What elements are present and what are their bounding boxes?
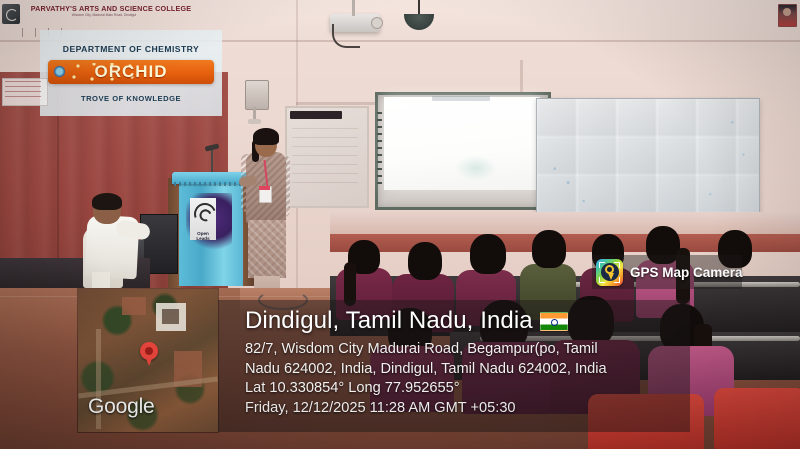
gps-logo-corner xyxy=(599,277,605,283)
speaker-lower-garment xyxy=(248,220,286,278)
address-line-2: Nadu 624002, India, Dindigul, Tamil Nadu… xyxy=(245,360,675,380)
banner-college-name: PARVATHY'S ARTS AND SCIENCE COLLEGE xyxy=(18,4,204,13)
notice-board-text-lines xyxy=(292,128,358,190)
map-building-courtyard xyxy=(162,309,179,324)
projector-mount-arm xyxy=(352,0,355,16)
wall-speaker-box xyxy=(245,80,269,110)
banner-tagline: TROVE OF KNOWLEDGE xyxy=(48,94,214,103)
location-details: 82/7, Wisdom City Madurai Road, Begampur… xyxy=(245,340,675,418)
gps-logo-corner xyxy=(614,262,620,268)
notice-board-header xyxy=(290,111,342,119)
location-title: Dindigul, Tamil Nadu, India xyxy=(245,307,533,335)
map-pin-center xyxy=(145,347,153,355)
speaker-id-badge-header xyxy=(259,186,270,190)
location-title-row: Dindigul, Tamil Nadu, India xyxy=(245,307,568,335)
audience-member-head xyxy=(532,230,566,268)
address-line-1: 82/7, Wisdom City Madurai Road, Begampur… xyxy=(245,340,675,360)
banner-event-title: ORCHID xyxy=(48,60,214,84)
gps-map-camera-label: GPS Map Camera xyxy=(630,265,743,280)
projection-screen-glare xyxy=(455,155,497,181)
gps-logo-pupil xyxy=(607,267,612,272)
gps-logo-corner xyxy=(614,277,620,283)
podium-brand-label: Open Leads xyxy=(190,231,216,241)
india-flag-icon xyxy=(540,312,568,331)
timestamp-line: Friday, 12/12/2025 11:28 AM GMT +05:30 xyxy=(245,399,675,419)
podium-fringe xyxy=(174,182,248,186)
projector-cable xyxy=(332,24,360,48)
audience-member-head xyxy=(470,234,506,274)
banner-college-subtitle: Wisdom City, Madurai Main Road, Dindigul xyxy=(24,13,184,18)
gps-map-camera-logo-icon xyxy=(596,259,623,286)
whiteboard-marker-tray xyxy=(377,112,382,184)
projection-screen-header-bar xyxy=(432,96,490,101)
college-event-banner xyxy=(536,98,760,216)
audience-chair xyxy=(714,388,800,449)
banner-portrait-photo xyxy=(778,4,797,27)
wall-speaker-base xyxy=(248,119,261,124)
audience-member-head xyxy=(408,242,442,280)
banner-side-note-lines xyxy=(5,81,41,101)
banner-department-title: DEPARTMENT OF CHEMISTRY xyxy=(48,44,214,54)
gps-logo-pin-tail xyxy=(608,273,614,280)
map-building xyxy=(122,297,146,315)
speaker-hair xyxy=(253,128,279,145)
projector-lens-icon xyxy=(371,17,383,29)
gps-map-camera-photo: PARVATHY'S ARTS AND SCIENCE COLLEGE Wisd… xyxy=(0,0,800,449)
banner-specks xyxy=(537,99,759,215)
gps-logo-corner xyxy=(599,262,605,268)
coordinates-line: Lat 10.330854° Long 77.952655° xyxy=(245,379,675,399)
google-watermark: Google xyxy=(88,395,155,419)
gps-map-camera-badge: GPS Map Camera xyxy=(592,255,742,289)
seated-man-hair xyxy=(92,193,122,210)
